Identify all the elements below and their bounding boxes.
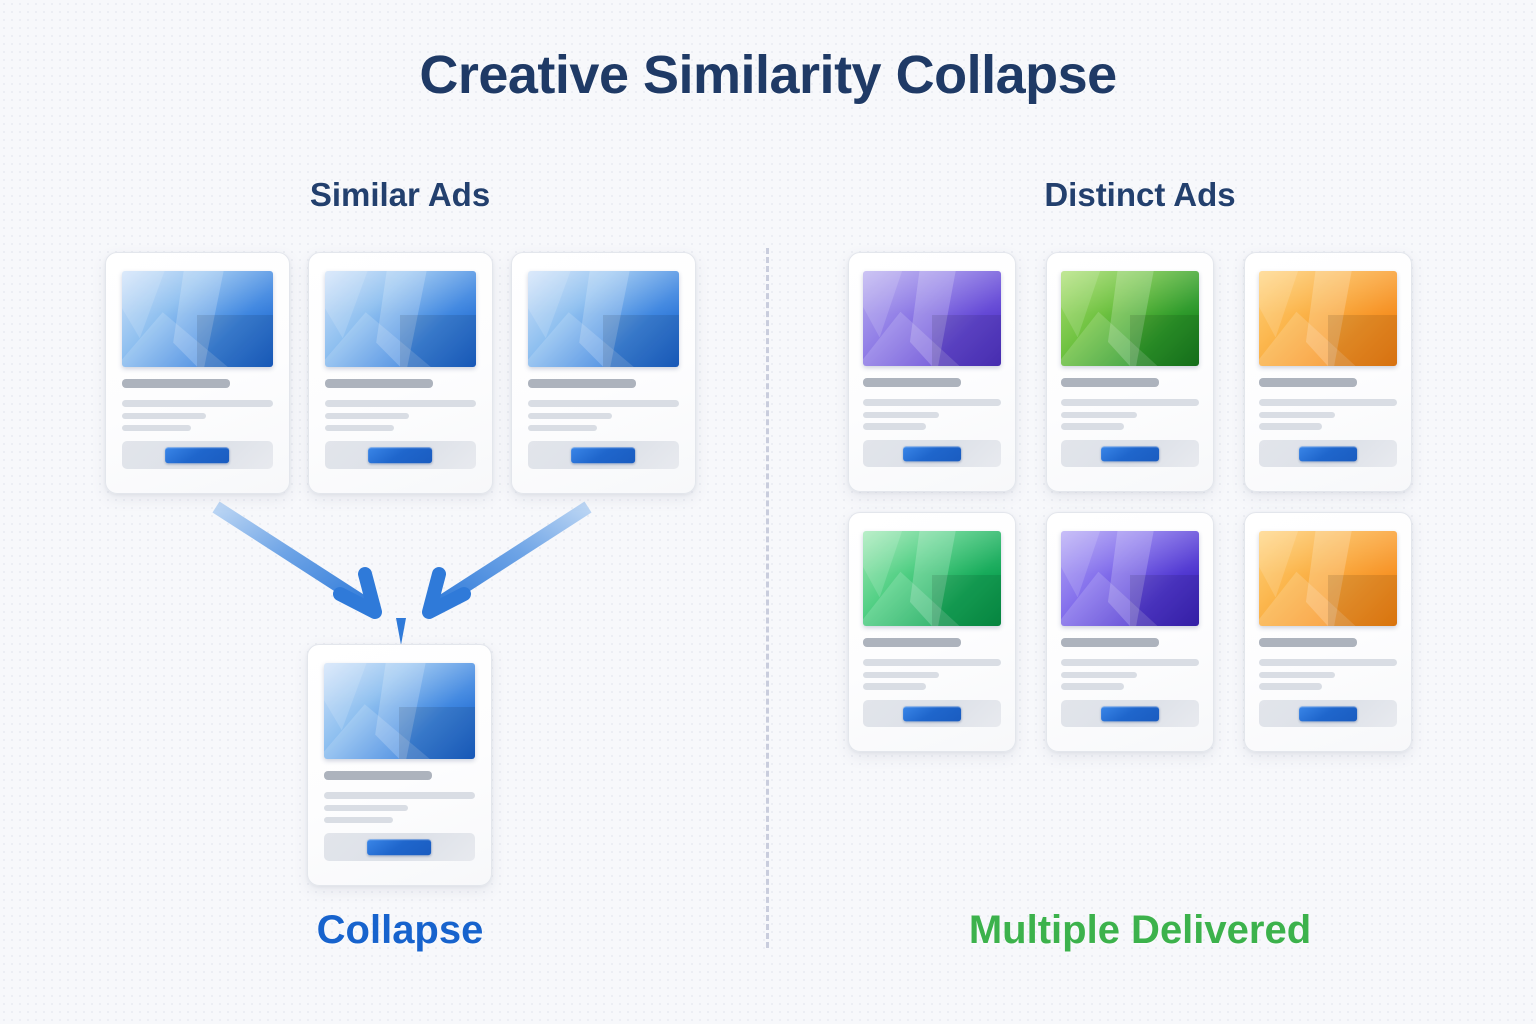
page-title: Creative Similarity Collapse [0, 44, 1536, 106]
ad-body-line [1259, 659, 1397, 665]
ad-body-line [122, 400, 274, 406]
ad-cta-button[interactable] [572, 447, 636, 462]
ad-thumbnail-image [122, 271, 274, 367]
ad-headline-placeholder [325, 379, 433, 388]
ad-body-line [1259, 423, 1322, 429]
ad-footer-bar [1061, 440, 1199, 467]
ad-body-line [324, 805, 408, 811]
ad-body-line [1259, 672, 1335, 678]
ad-cta-button[interactable] [1299, 446, 1357, 461]
ad-headline-placeholder [863, 378, 961, 387]
distinct-ad-card-3[interactable] [1244, 252, 1412, 492]
ad-body-line [1061, 412, 1137, 418]
ad-body-line [863, 659, 1001, 665]
thumb-sheen [863, 531, 1001, 626]
thumb-sheen [325, 271, 477, 367]
ad-footer-bar [863, 700, 1001, 727]
ad-thumbnail-image [1259, 531, 1397, 626]
ad-thumbnail-image [324, 663, 476, 759]
ad-headline-placeholder [324, 771, 432, 780]
arrow-left [216, 507, 375, 612]
ad-thumbnail-image [863, 271, 1001, 366]
thumb-sheen [1061, 271, 1199, 366]
ad-body-line [1061, 672, 1137, 678]
left-outcome-label: Collapse [150, 908, 650, 953]
ad-cta-button[interactable] [903, 706, 961, 721]
distinct-ad-card-5[interactable] [1046, 512, 1214, 752]
ad-body-line [1259, 399, 1397, 405]
thumb-sheen [1259, 271, 1397, 366]
ad-body-line [325, 425, 395, 431]
ad-body-line [863, 672, 939, 678]
ad-body-line [325, 413, 409, 419]
ad-body-line [122, 425, 192, 431]
thumb-sheen [324, 663, 476, 759]
distinct-ad-card-1[interactable] [848, 252, 1016, 492]
ad-thumbnail-image [1061, 271, 1199, 366]
ad-body-line [528, 400, 680, 406]
ad-cta-button[interactable] [166, 447, 230, 462]
distinct-ad-card-4[interactable] [848, 512, 1016, 752]
ad-thumbnail-image [325, 271, 477, 367]
ad-body-line [1061, 683, 1124, 689]
ad-footer-bar [1259, 440, 1397, 467]
ad-body-line [528, 413, 612, 419]
ad-thumbnail-image [528, 271, 680, 367]
thumb-sheen [122, 271, 274, 367]
ad-headline-placeholder [122, 379, 230, 388]
ad-cta-button[interactable] [1101, 446, 1159, 461]
ad-headline-placeholder [528, 379, 636, 388]
thumb-sheen [863, 271, 1001, 366]
arrow-right [429, 507, 588, 612]
similar-ad-card-3[interactable] [511, 252, 696, 494]
ad-footer-bar [1061, 700, 1199, 727]
ad-body-line [1061, 659, 1199, 665]
ad-footer-bar [863, 440, 1001, 467]
ad-footer-bar [325, 441, 477, 469]
ad-body-line [325, 400, 477, 406]
ad-body-line [863, 683, 926, 689]
collapsed-ad-card[interactable] [307, 644, 492, 886]
similar-ad-card-1[interactable] [105, 252, 290, 494]
right-panel-heading: Distinct Ads [890, 176, 1390, 214]
ad-headline-placeholder [1061, 378, 1159, 387]
ad-body-line [122, 413, 206, 419]
ad-body-line [863, 399, 1001, 405]
ad-cta-button[interactable] [1101, 706, 1159, 721]
distinct-ad-card-6[interactable] [1244, 512, 1412, 752]
ad-cta-button[interactable] [903, 446, 961, 461]
distinct-ad-card-2[interactable] [1046, 252, 1214, 492]
ad-headline-placeholder [863, 638, 961, 647]
ad-cta-button[interactable] [369, 447, 433, 462]
ad-cta-button[interactable] [1299, 706, 1357, 721]
ad-body-line [1061, 423, 1124, 429]
thumb-sheen [528, 271, 680, 367]
ad-headline-placeholder [1061, 638, 1159, 647]
ad-thumbnail-image [1061, 531, 1199, 626]
similar-ad-card-2[interactable] [308, 252, 493, 494]
ad-body-line [863, 423, 926, 429]
ad-headline-placeholder [1259, 378, 1357, 387]
diagram-canvas: Creative Similarity Collapse Similar Ads… [0, 0, 1536, 1024]
ad-body-line [1259, 412, 1335, 418]
right-outcome-label: Multiple Delivered [890, 908, 1390, 953]
thumb-sheen [1061, 531, 1199, 626]
ad-footer-bar [528, 441, 680, 469]
thumb-sheen [1259, 531, 1397, 626]
ad-body-line [324, 817, 394, 823]
ad-body-line [863, 412, 939, 418]
ad-cta-button[interactable] [368, 839, 432, 854]
ad-body-line [324, 792, 476, 798]
ad-body-line [1061, 399, 1199, 405]
ad-headline-placeholder [1259, 638, 1357, 647]
ad-thumbnail-image [863, 531, 1001, 626]
ad-thumbnail-image [1259, 271, 1397, 366]
left-panel-heading: Similar Ads [150, 176, 650, 214]
ad-footer-bar [324, 833, 476, 861]
panel-divider [766, 248, 769, 948]
ad-body-line [528, 425, 598, 431]
ad-footer-bar [1259, 700, 1397, 727]
ad-body-line [1259, 683, 1322, 689]
ad-footer-bar [122, 441, 274, 469]
arrow-middle [396, 504, 406, 645]
